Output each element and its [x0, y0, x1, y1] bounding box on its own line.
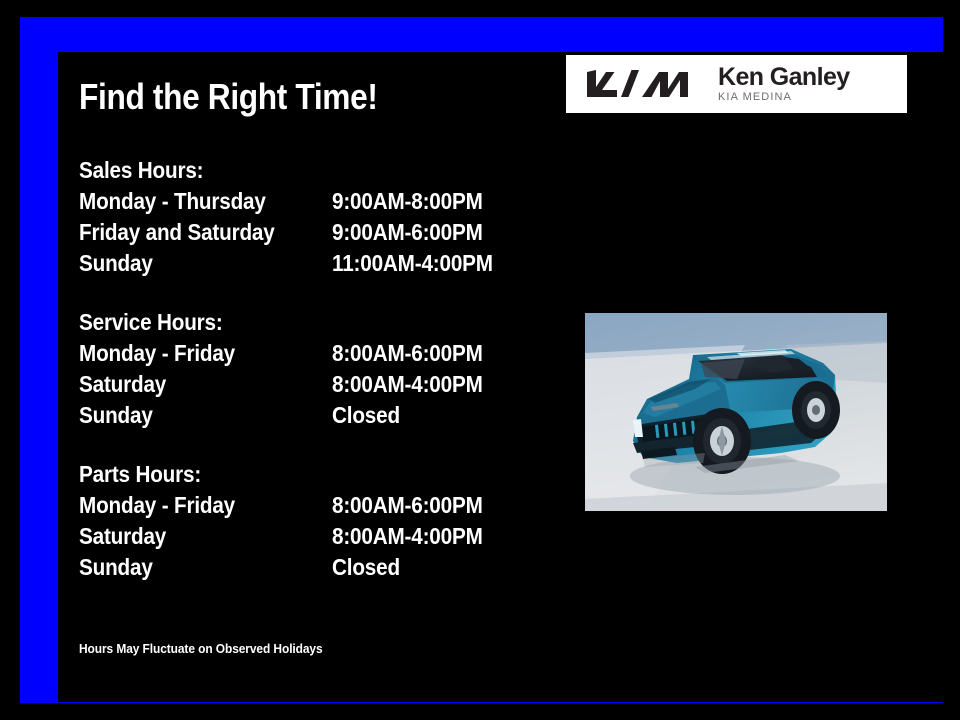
kia-ev9-illustration [585, 313, 887, 511]
hours-row-time: 9:00AM-8:00PM [332, 186, 483, 217]
hours-row: Monday - Friday 8:00AM-6:00PM [79, 338, 549, 369]
hours-row-day: Monday - Friday [79, 338, 307, 369]
hours-row: Monday - Friday 8:00AM-6:00PM [79, 490, 549, 521]
section-heading: Service Hours: [79, 307, 502, 338]
dealer-name-group: Ken Ganley KIA MEDINA [718, 64, 850, 104]
hours-list: Sales Hours: Monday - Thursday 9:00AM-8:… [79, 155, 549, 583]
hours-row-day: Monday - Friday [79, 490, 307, 521]
hours-row-time: 8:00AM-4:00PM [332, 521, 483, 552]
hours-row-day: Sunday [79, 248, 307, 279]
hours-row: Monday - Thursday 9:00AM-8:00PM [79, 186, 549, 217]
hours-row-time: 9:00AM-6:00PM [332, 217, 483, 248]
hours-row-day: Saturday [79, 369, 307, 400]
hours-row-time: Closed [332, 400, 400, 431]
hours-row: Sunday Closed [79, 400, 549, 431]
section-heading: Parts Hours: [79, 459, 502, 490]
vehicle-photo [585, 313, 887, 511]
hours-section-sales: Sales Hours: Monday - Thursday 9:00AM-8:… [79, 155, 549, 279]
hours-row: Sunday 11:00AM-4:00PM [79, 248, 549, 279]
hours-row-day: Sunday [79, 400, 307, 431]
hours-row-day: Sunday [79, 552, 307, 583]
hours-row: Friday and Saturday 9:00AM-6:00PM [79, 217, 549, 248]
hours-row: Sunday Closed [79, 552, 549, 583]
dealer-subtitle: KIA MEDINA [718, 90, 850, 104]
hours-row-time: Closed [332, 552, 400, 583]
slide-canvas: Find the Right Time! Sales Hours: Monday… [0, 0, 960, 720]
hours-row: Saturday 8:00AM-4:00PM [79, 369, 549, 400]
dealer-logo-banner: Ken Ganley KIA MEDINA [566, 55, 907, 113]
section-heading: Sales Hours: [79, 155, 502, 186]
hours-row-day: Monday - Thursday [79, 186, 307, 217]
page-title: Find the Right Time! [79, 76, 378, 118]
hours-row-time: 8:00AM-6:00PM [332, 490, 483, 521]
hours-row-time: 8:00AM-4:00PM [332, 369, 483, 400]
hours-row-day: Saturday [79, 521, 307, 552]
kia-wordmark-icon [580, 69, 698, 99]
hours-row-day: Friday and Saturday [79, 217, 307, 248]
hours-row-time: 8:00AM-6:00PM [332, 338, 483, 369]
holiday-disclaimer: Hours May Fluctuate on Observed Holidays [79, 641, 323, 656]
dealer-name: Ken Ganley [718, 64, 850, 90]
hours-section-service: Service Hours: Monday - Friday 8:00AM-6:… [79, 307, 549, 431]
hours-section-parts: Parts Hours: Monday - Friday 8:00AM-6:00… [79, 459, 549, 583]
hours-row-time: 11:00AM-4:00PM [332, 248, 493, 279]
hours-row: Saturday 8:00AM-4:00PM [79, 521, 549, 552]
